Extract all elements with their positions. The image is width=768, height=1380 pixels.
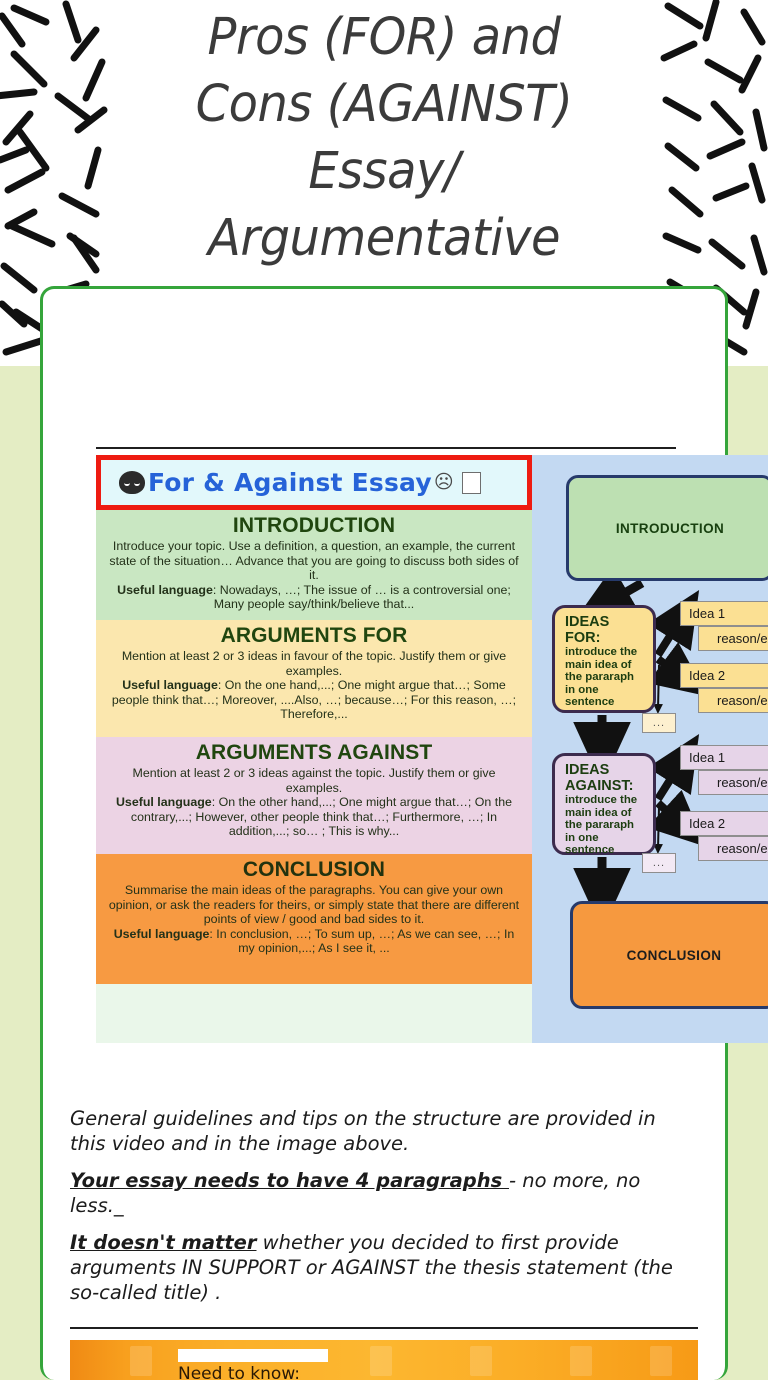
page-title: Pros (FOR) and Cons (AGAINST) Essay/ Arg…: [125, 4, 644, 272]
diagram-node-ideas-for: IDEAS FOR: introduce the main idea of th…: [552, 605, 656, 713]
banner-texture-3: [470, 1346, 492, 1376]
ellipsis-box-for: ...: [642, 713, 676, 733]
for-and-against-essay-infographic: For & Against Essay ☹ INTRODUCTION Intro…: [96, 455, 768, 1043]
diagram-node-ideas-against: IDEAS AGAINST: introduce the main idea o…: [552, 753, 656, 855]
infographic-left-column: For & Against Essay ☹ INTRODUCTION Intro…: [96, 455, 532, 1043]
infographic-title-bar: For & Against Essay ☹: [96, 455, 532, 510]
section-conclusion: CONCLUSION Summarise the main ideas of t…: [96, 854, 532, 984]
idea-box-against-2: Idea 2: [680, 811, 768, 836]
divider-top: [96, 447, 676, 449]
useful-language-label: Useful language: [116, 795, 212, 809]
section-body: Summarise the main ideas of the paragrap…: [107, 883, 521, 956]
banner-white-strip: [178, 1349, 328, 1362]
ideas-for-body: introduce the main idea of the pararaph …: [565, 646, 644, 709]
section-body: Mention at least 2 or 3 ideas against th…: [107, 766, 521, 839]
body-text: General guidelines and tips on the struc…: [70, 1106, 686, 1317]
section-body: Mention at least 2 or 3 ideas in favour …: [107, 649, 521, 722]
infographic-flow-diagram: INTRODUCTION IDEAS FOR: introduce the ma…: [532, 455, 768, 1043]
ideas-against-heading: IDEAS AGAINST:: [565, 763, 644, 794]
reason-box-for-1: reason/example: [698, 626, 768, 651]
reason-box-against-1: reason/example: [698, 770, 768, 795]
useful-language-label: Useful language: [122, 678, 218, 692]
ideas-for-heading: IDEAS FOR:: [565, 615, 644, 646]
section-heading: ARGUMENTS AGAINST: [107, 741, 521, 765]
banner-texture-2: [370, 1346, 392, 1376]
reason-box-for-2: reason/example: [698, 688, 768, 713]
infographic-title-text: For & Against Essay: [148, 468, 432, 497]
section-arguments-for: ARGUMENTS FOR Mention at least 2 or 3 id…: [96, 620, 532, 737]
section-body: Introduce your topic. Use a definition, …: [107, 539, 521, 612]
ellipsis-box-against: ...: [642, 853, 676, 873]
paragraph-2-emphasis: Your essay needs to have 4 paragraphs: [70, 1169, 509, 1192]
paragraph-1: General guidelines and tips on the struc…: [70, 1106, 686, 1156]
useful-language-label: Useful language: [117, 583, 213, 597]
paragraph-2: Your essay needs to have 4 paragraphs - …: [70, 1168, 686, 1218]
diagram-node-introduction: INTRODUCTION: [566, 475, 768, 581]
need-to-know-banner: Need to know:: [70, 1340, 698, 1380]
section-arguments-against: ARGUMENTS AGAINST Mention at least 2 or …: [96, 737, 532, 854]
banner-texture-4: [570, 1346, 592, 1376]
section-introduction: INTRODUCTION Introduce your topic. Use a…: [96, 510, 532, 620]
paragraph-3: It doesn't matter whether you decided to…: [70, 1230, 686, 1305]
paragraph-3-emphasis: It doesn't matter: [70, 1231, 256, 1254]
banner-texture-1: [130, 1346, 152, 1376]
section-heading: CONCLUSION: [107, 858, 521, 882]
idea-box-for-1: Idea 1: [680, 601, 768, 626]
smiley-blob-icon: [119, 471, 145, 494]
ideas-against-body: introduce the main idea of the pararaph …: [565, 794, 644, 857]
sad-face-icon: ☹: [434, 473, 454, 492]
section-heading: ARGUMENTS FOR: [107, 624, 521, 648]
useful-language-label: Useful language: [114, 927, 210, 941]
reason-box-against-2: reason/example: [698, 836, 768, 861]
idea-box-for-2: Idea 2: [680, 663, 768, 688]
diagram-node-conclusion: CONCLUSION: [570, 901, 768, 1009]
banner-texture-5: [650, 1346, 672, 1376]
checkbox-icon: [462, 472, 481, 494]
divider-bottom: [70, 1327, 698, 1329]
banner-label: Need to know:: [178, 1364, 300, 1380]
idea-box-against-1: Idea 1: [680, 745, 768, 770]
section-heading: INTRODUCTION: [107, 514, 521, 538]
